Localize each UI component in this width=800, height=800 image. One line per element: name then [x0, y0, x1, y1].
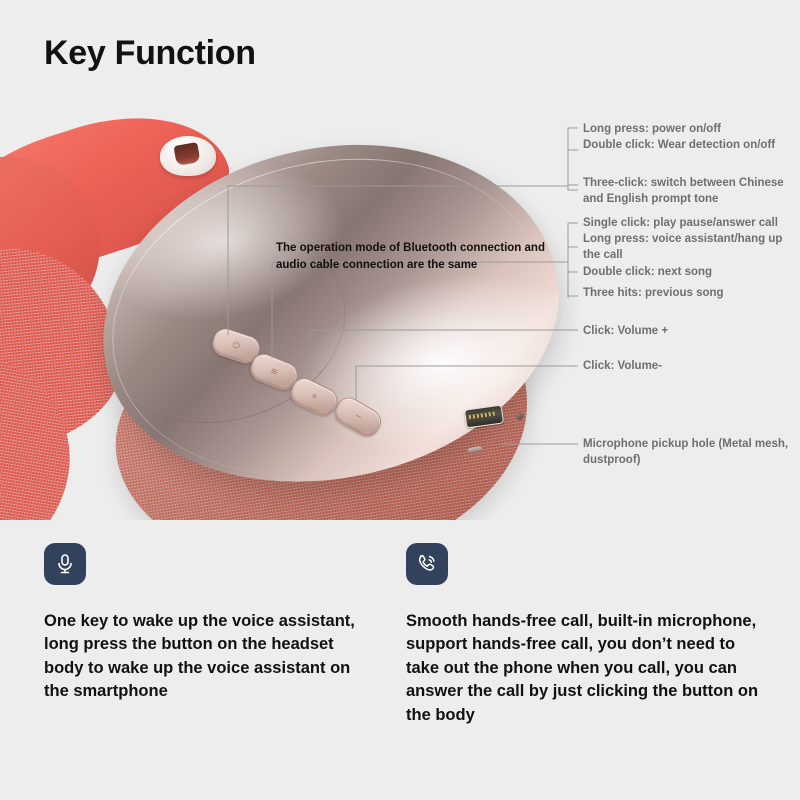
annotation-multi-three-hits: Three hits: previous song: [583, 286, 798, 302]
annotation-power-three-click: Three-click: switch between Chinese and …: [583, 176, 798, 207]
annotation-power-long-press: Long press: power on/off: [583, 122, 798, 138]
annotation-multi-double-click: Double click: next song: [583, 265, 798, 281]
annotation-multi-long-press: Long press: voice assistant/hang up the …: [583, 232, 798, 263]
feature-hands-free-call: Smooth hands-free call, built-in microph…: [406, 543, 766, 727]
power-icon: ⏻: [213, 334, 260, 358]
feature-badge-voice: [44, 543, 86, 585]
feature-badge-call: [406, 543, 448, 585]
feature-voice-text: One key to wake up the voice assistant, …: [44, 610, 374, 704]
feature-call-text: Smooth hands-free call, built-in microph…: [406, 610, 766, 727]
annotation-power-double-click: Double click: Wear detection on/off: [583, 138, 798, 154]
microphone-icon: [53, 552, 77, 576]
usb-port-pins: [469, 412, 495, 420]
annotation-volume-down: Click: Volume-: [583, 359, 798, 375]
phone-call-icon: [415, 552, 439, 576]
callout-bluetooth-note: The operation mode of Bluetooth connecti…: [276, 240, 566, 273]
feature-voice-assistant: One key to wake up the voice assistant, …: [44, 543, 374, 704]
annotation-microphone: Microphone pickup hole (Metal mesh, dust…: [583, 437, 798, 468]
annotation-volume-up: Click: Volume +: [583, 324, 798, 340]
microphone-pickup-hole: [516, 413, 523, 420]
page-title: Key Function: [44, 34, 256, 73]
annotation-multi-single-click: Single click: play pause/answer call: [583, 216, 798, 232]
